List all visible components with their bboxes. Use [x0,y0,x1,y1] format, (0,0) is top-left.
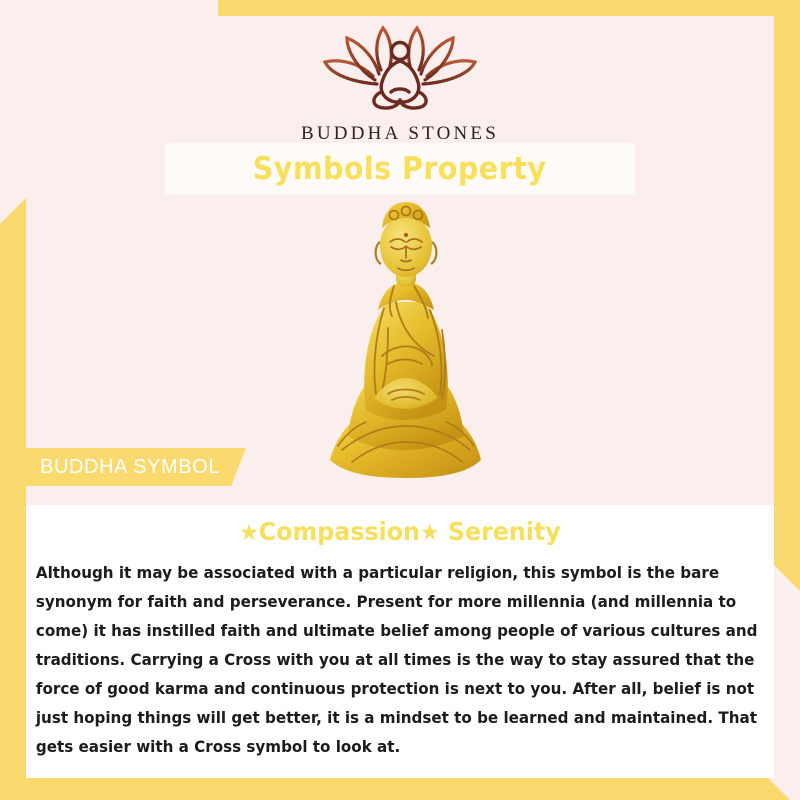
frame-bottom-accent [0,778,790,800]
frame-top-right-accent [218,0,800,16]
section-ribbon-buddha-symbol: BUDDHA SYMBOL [18,448,246,486]
star-icon-2: ★ [420,520,440,546]
lotus-meditation-icon [0,22,800,119]
page-title: Symbols Property [253,151,547,187]
tagline-second: Serenity [448,517,561,546]
tagline: ★Compassion★ Serenity [52,515,747,550]
tagline-first: Compassion [259,517,420,546]
brand-header: BUDDHA STONES [0,22,800,145]
page-root: BUDDHA STONES Symbols Property [0,0,800,800]
content-panel: ★Compassion★ Serenity Although it may be… [26,505,774,778]
brand-wordmark: BUDDHA STONES [0,123,800,145]
description-paragraph: Although it may be associated with a par… [34,558,762,761]
section-ribbon-label: BUDDHA SYMBOL [40,456,220,479]
frame-left-accent [0,198,26,784]
title-banner: Symbols Property [165,143,635,195]
buddha-statue-image [318,198,493,490]
star-icon-1: ★ [239,520,259,546]
